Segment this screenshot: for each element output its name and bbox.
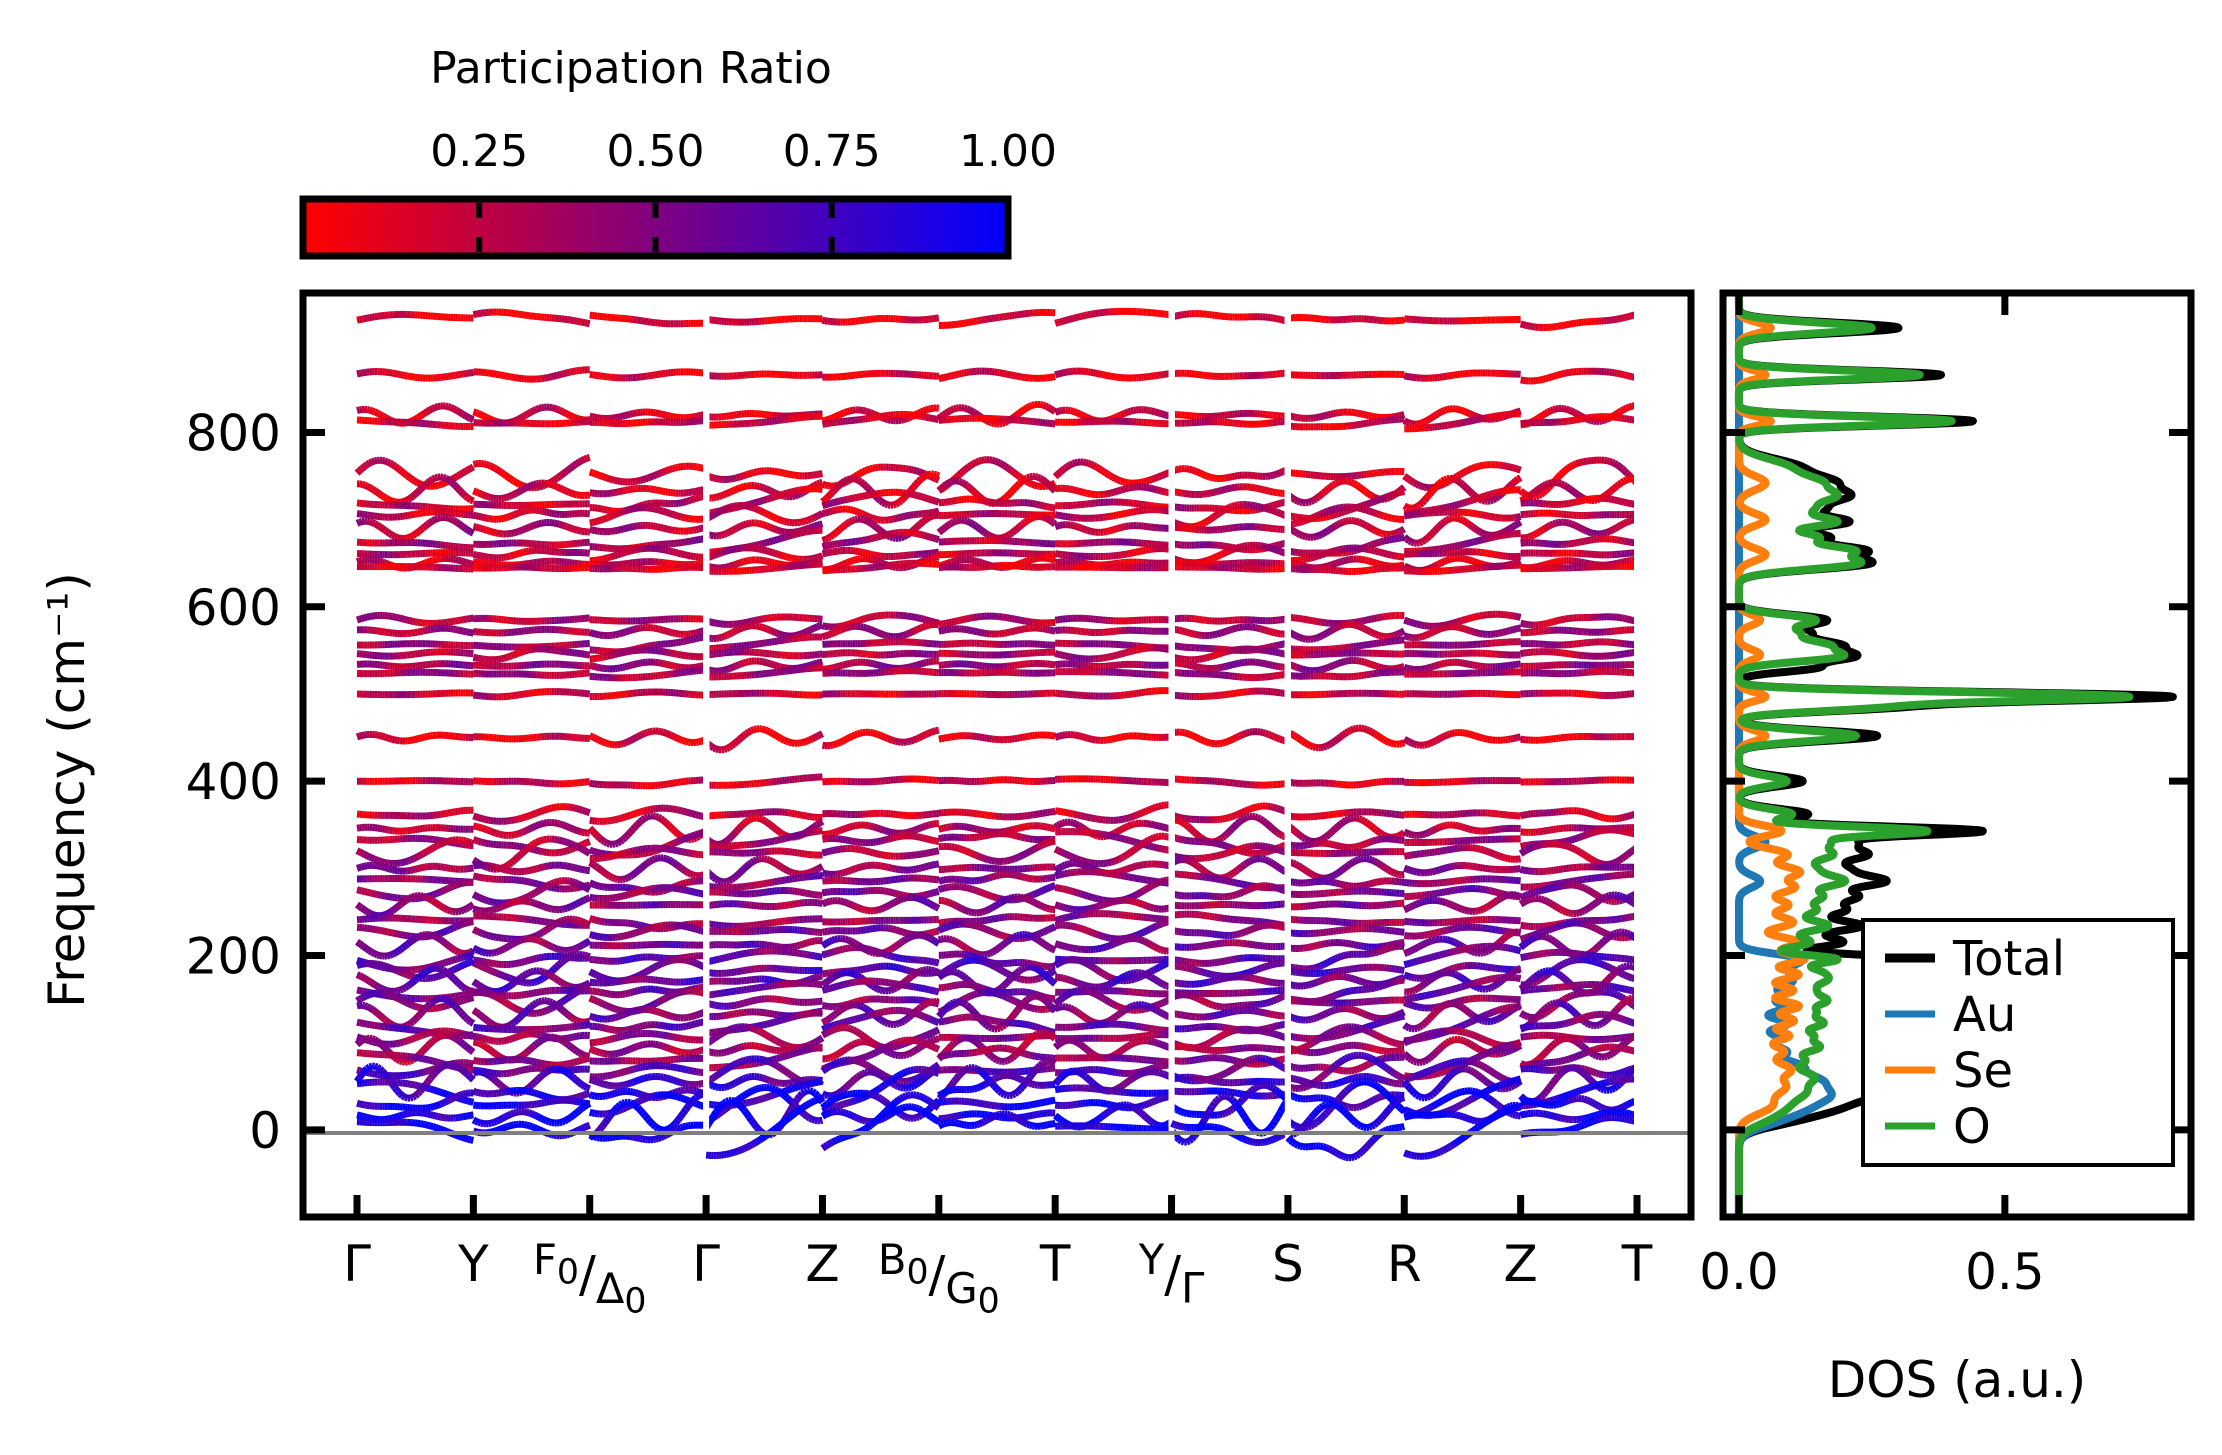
band-segment xyxy=(699,467,702,468)
band-segment xyxy=(1460,473,1463,474)
band-segment xyxy=(830,535,833,537)
band-segment xyxy=(1450,506,1453,507)
band-segment xyxy=(1450,518,1453,519)
band-segment xyxy=(1483,501,1486,502)
band-segment xyxy=(1040,505,1043,506)
band-segment xyxy=(931,418,934,419)
band-segment xyxy=(643,479,646,480)
band-segment xyxy=(1060,470,1063,472)
band-segment xyxy=(1050,408,1053,410)
band-segment xyxy=(476,516,479,517)
band-segment xyxy=(375,412,378,413)
band-segment xyxy=(625,490,628,491)
band-segment xyxy=(878,529,881,531)
band-segment xyxy=(1607,493,1610,495)
band-segment xyxy=(822,540,825,541)
band-segment xyxy=(1341,522,1344,523)
band-segment xyxy=(564,373,567,374)
band-segment xyxy=(1574,492,1577,494)
band-segment xyxy=(1387,496,1390,497)
band-segment xyxy=(726,508,729,509)
band-segment xyxy=(1209,518,1212,520)
band-segment xyxy=(1012,531,1015,533)
band-segment xyxy=(1543,528,1546,530)
band-segment xyxy=(435,407,438,408)
band-segment xyxy=(1328,529,1331,531)
band-segment xyxy=(762,524,765,525)
band-segment xyxy=(461,413,464,415)
band-segment xyxy=(387,462,390,463)
band-segment xyxy=(1505,466,1508,467)
band-segment xyxy=(779,538,782,539)
band-segment xyxy=(1609,461,1612,462)
band-segment xyxy=(1419,542,1422,543)
band-segment xyxy=(951,409,954,410)
band-segment xyxy=(587,457,590,458)
band-segment xyxy=(1040,478,1043,480)
band-segment xyxy=(1096,467,1099,468)
band-segment xyxy=(757,544,760,545)
band-segment xyxy=(385,498,388,499)
band-segment xyxy=(1571,490,1574,492)
band-segment xyxy=(817,483,820,484)
band-segment xyxy=(1473,499,1476,500)
band-segment xyxy=(458,411,461,413)
band-segment xyxy=(1301,521,1304,522)
band-segment xyxy=(1462,503,1465,504)
band-segment xyxy=(1480,419,1483,420)
band-segment xyxy=(1328,414,1331,415)
band-segment xyxy=(1541,529,1544,531)
band-segment xyxy=(919,496,922,497)
band-segment xyxy=(1336,514,1339,515)
band-segment xyxy=(1263,490,1266,491)
band-segment xyxy=(1296,500,1299,501)
band-segment xyxy=(903,536,906,537)
band-segment xyxy=(1156,477,1159,478)
band-segment xyxy=(1561,374,1564,375)
band-segment xyxy=(1050,486,1053,489)
band-segment xyxy=(1412,542,1415,543)
band-segment xyxy=(1591,533,1594,534)
band-segment xyxy=(1326,415,1329,416)
band-segment xyxy=(534,409,537,410)
band-segment xyxy=(1404,506,1407,507)
band-segment xyxy=(779,472,782,473)
band-segment xyxy=(365,318,368,319)
band-segment xyxy=(1055,323,1058,324)
band-segment xyxy=(1017,527,1020,529)
band-segment xyxy=(671,416,674,417)
band-segment xyxy=(559,374,562,375)
band-segment xyxy=(526,527,529,528)
band-segment xyxy=(489,531,492,532)
band-segment xyxy=(1010,491,1013,494)
band-segment xyxy=(1043,506,1046,507)
band-segment xyxy=(1159,490,1162,491)
band-segment xyxy=(1427,536,1430,538)
band-segment xyxy=(1293,417,1296,418)
band-segment xyxy=(883,503,886,504)
band-segment xyxy=(974,413,977,415)
band-segment xyxy=(1204,475,1207,476)
band-segment xyxy=(850,510,853,511)
band-segment xyxy=(418,416,421,418)
band-segment xyxy=(1629,316,1632,317)
band-segment xyxy=(1604,533,1607,534)
band-segment xyxy=(1217,513,1220,515)
band-segment xyxy=(1012,375,1015,376)
band-segment xyxy=(554,375,557,376)
band-segment xyxy=(714,497,717,498)
band-segment xyxy=(1543,484,1546,485)
band-segment xyxy=(1493,499,1496,500)
band-segment xyxy=(848,499,851,500)
band-segment xyxy=(767,499,770,500)
band-segment xyxy=(1470,421,1473,422)
band-segment xyxy=(564,471,567,473)
band-segment xyxy=(1614,463,1617,464)
band-segment xyxy=(876,519,879,520)
band-segment xyxy=(1159,413,1162,414)
band-segment xyxy=(1070,464,1073,465)
band-segment xyxy=(871,468,874,469)
band-segment xyxy=(572,493,575,494)
band-segment xyxy=(1083,529,1086,530)
band-segment xyxy=(471,419,474,420)
band-segment xyxy=(605,510,608,511)
band-segment xyxy=(1255,488,1258,489)
band-segment xyxy=(1425,538,1428,540)
band-segment xyxy=(1108,493,1111,494)
band-segment xyxy=(967,485,970,487)
band-segment xyxy=(871,413,874,414)
band-segment xyxy=(1447,519,1450,520)
band-segment xyxy=(476,527,479,528)
band-segment xyxy=(898,517,901,518)
band-segment xyxy=(1478,498,1481,499)
band-segment xyxy=(924,535,927,536)
band-segment xyxy=(547,377,550,378)
band-segment xyxy=(1333,413,1336,414)
band-segment xyxy=(1083,315,1086,316)
band-segment xyxy=(468,498,471,500)
band-segment xyxy=(501,518,504,519)
band-segment xyxy=(610,516,613,517)
band-segment xyxy=(1564,409,1567,410)
band-segment xyxy=(375,491,378,493)
band-segment xyxy=(653,509,656,510)
band-segment xyxy=(580,460,583,461)
band-segment xyxy=(1007,534,1010,535)
band-segment xyxy=(946,483,949,485)
band-segment xyxy=(397,538,400,539)
band-segment xyxy=(1374,530,1377,531)
band-segment xyxy=(1197,525,1200,526)
band-segment xyxy=(1457,481,1460,483)
band-segment xyxy=(554,486,557,487)
band-segment xyxy=(1609,490,1612,492)
band-segment xyxy=(896,503,899,504)
band-segment xyxy=(853,510,856,511)
band-segment xyxy=(1576,526,1579,527)
band-segment xyxy=(1040,404,1043,405)
band-segment xyxy=(1521,491,1524,493)
band-segment xyxy=(1470,525,1473,527)
band-segment xyxy=(1045,481,1048,483)
band-segment xyxy=(828,495,831,498)
band-segment xyxy=(1399,492,1402,493)
band-segment xyxy=(779,531,782,532)
band-segment xyxy=(463,414,466,416)
band-segment xyxy=(367,463,370,465)
band-segment xyxy=(929,418,932,419)
band-segment xyxy=(1371,502,1374,503)
band-segment xyxy=(792,496,795,497)
band-segment xyxy=(936,501,939,502)
band-segment xyxy=(865,539,868,540)
band-segment xyxy=(696,491,699,492)
band-segment xyxy=(362,466,365,468)
band-segment xyxy=(1131,410,1134,411)
band-segment xyxy=(1382,533,1385,534)
band-segment xyxy=(1624,522,1627,523)
band-segment xyxy=(1407,507,1410,508)
band-segment xyxy=(1419,503,1422,505)
band-segment xyxy=(754,508,757,509)
band-segment xyxy=(453,409,456,410)
band-segment xyxy=(1457,409,1460,410)
band-segment xyxy=(1483,496,1486,497)
band-segment xyxy=(1478,466,1481,467)
band-segment xyxy=(1265,508,1268,509)
band-segment xyxy=(873,518,876,519)
band-segment xyxy=(549,484,552,485)
band-segment xyxy=(1536,489,1539,491)
band-segment xyxy=(385,461,388,462)
band-segment xyxy=(724,508,727,509)
band-segment xyxy=(1010,469,1013,471)
band-segment xyxy=(1217,491,1220,492)
band-segment xyxy=(1457,475,1460,477)
band-segment xyxy=(554,408,557,409)
band-segment xyxy=(1498,492,1501,493)
band-segment xyxy=(600,476,603,477)
band-segment xyxy=(1280,503,1283,504)
band-segment xyxy=(473,491,476,492)
band-segment xyxy=(772,528,775,529)
band-segment xyxy=(1533,491,1536,493)
band-segment xyxy=(1222,490,1225,491)
band-segment xyxy=(1404,421,1407,422)
band-segment xyxy=(612,480,615,481)
band-segment xyxy=(1083,492,1086,493)
band-segment xyxy=(734,489,737,490)
band-segment xyxy=(1402,415,1405,416)
band-segment xyxy=(514,481,517,483)
band-segment xyxy=(1101,374,1104,375)
band-segment xyxy=(1409,423,1412,424)
band-segment xyxy=(1333,483,1336,485)
band-segment xyxy=(815,525,818,526)
band-segment xyxy=(868,522,871,524)
band-segment xyxy=(357,320,360,321)
band-segment xyxy=(1275,474,1278,475)
band-segment xyxy=(1371,529,1374,530)
band-segment xyxy=(1442,508,1445,509)
band-segment xyxy=(587,323,590,324)
band-segment xyxy=(1030,405,1033,406)
band-segment xyxy=(855,479,858,480)
band-segment xyxy=(1566,486,1569,488)
band-segment xyxy=(1412,481,1415,483)
band-segment xyxy=(1556,522,1559,523)
band-segment xyxy=(623,529,626,530)
band-segment xyxy=(382,460,385,461)
band-segment xyxy=(1619,501,1622,502)
band-segment xyxy=(489,465,492,466)
band-segment xyxy=(1500,491,1503,492)
band-segment xyxy=(415,481,418,482)
band-segment xyxy=(1073,525,1076,526)
band-segment xyxy=(1068,465,1071,466)
band-segment xyxy=(833,489,836,492)
band-segment xyxy=(524,511,527,512)
band-segment xyxy=(974,462,977,463)
band-segment xyxy=(845,499,848,500)
band-segment xyxy=(486,417,489,418)
band-segment xyxy=(1546,412,1549,413)
band-segment xyxy=(1452,505,1455,506)
band-segment xyxy=(749,507,752,508)
band-segment xyxy=(494,467,497,468)
band-segment xyxy=(1328,516,1331,517)
band-segment xyxy=(1268,509,1271,510)
band-segment xyxy=(1569,410,1572,411)
band-segment xyxy=(418,483,421,484)
band-segment xyxy=(1394,493,1397,494)
band-segment xyxy=(1273,511,1276,512)
band-segment xyxy=(1331,509,1334,510)
band-segment xyxy=(1215,492,1218,493)
band-segment xyxy=(825,546,828,547)
band-segment xyxy=(1581,500,1584,501)
band-segment xyxy=(1333,526,1336,528)
band-segment xyxy=(1280,472,1283,473)
band-segment xyxy=(1318,417,1321,418)
band-segment xyxy=(919,523,922,525)
band-segment xyxy=(1298,501,1301,502)
band-segment xyxy=(1086,462,1089,463)
band-segment xyxy=(1045,506,1048,507)
band-segment xyxy=(865,515,868,516)
band-segment xyxy=(1404,476,1407,478)
band-segment xyxy=(506,476,509,478)
band-segment xyxy=(1513,481,1516,483)
band-segment xyxy=(1154,412,1157,413)
band-segment xyxy=(1571,465,1574,466)
band-segment xyxy=(1455,505,1458,506)
band-segment xyxy=(1361,488,1364,490)
band-segment xyxy=(661,527,664,528)
band-segment xyxy=(446,518,449,519)
band-segment xyxy=(820,513,823,514)
band-segment xyxy=(526,413,529,415)
band-segment xyxy=(1513,525,1516,527)
band-segment xyxy=(1144,481,1147,482)
band-segment xyxy=(929,537,932,538)
band-segment xyxy=(1318,495,1321,497)
band-segment xyxy=(380,494,383,496)
band-segment xyxy=(443,477,446,478)
band-segment xyxy=(1060,373,1063,374)
band-segment xyxy=(876,527,879,529)
band-segment xyxy=(868,469,871,470)
band-segment xyxy=(1475,529,1478,531)
band-segment xyxy=(423,526,426,528)
band-segment xyxy=(549,513,552,514)
band-segment xyxy=(830,418,833,419)
band-segment xyxy=(658,490,661,491)
band-segment xyxy=(385,530,388,532)
band-segment xyxy=(478,493,481,494)
band-segment xyxy=(878,536,881,537)
band-segment xyxy=(949,376,952,377)
band-segment xyxy=(486,518,489,519)
band-segment xyxy=(1207,476,1210,477)
band-segment xyxy=(661,414,664,415)
band-segment xyxy=(1473,415,1476,416)
band-segment xyxy=(1032,405,1035,406)
band-segment xyxy=(941,415,944,417)
band-segment xyxy=(767,542,770,543)
band-segment xyxy=(1164,415,1167,416)
band-segment xyxy=(997,462,1000,463)
band-segment xyxy=(790,492,793,493)
band-segment xyxy=(1493,493,1496,494)
band-segment xyxy=(557,487,560,488)
band-segment xyxy=(843,481,846,483)
band-segment xyxy=(400,470,403,472)
band-segment xyxy=(1538,487,1541,489)
band-segment xyxy=(1118,415,1121,416)
band-segment xyxy=(370,522,373,523)
band-segment xyxy=(519,490,522,491)
band-segment xyxy=(372,461,375,462)
band-segment xyxy=(1379,499,1382,500)
band-segment xyxy=(873,538,876,539)
band-segment xyxy=(1025,408,1028,410)
band-segment xyxy=(863,410,866,411)
band-segment xyxy=(931,516,934,517)
band-segment xyxy=(724,533,727,534)
band-segment xyxy=(954,408,957,409)
band-segment xyxy=(797,533,800,534)
band-segment xyxy=(430,521,433,523)
band-segment xyxy=(575,418,578,419)
band-segment xyxy=(757,502,760,503)
band-segment xyxy=(1058,472,1061,474)
band-segment xyxy=(1364,504,1367,505)
band-segment xyxy=(1220,511,1223,513)
band-segment xyxy=(1511,527,1514,529)
band-segment xyxy=(810,518,813,519)
band-segment xyxy=(590,529,593,530)
band-segment xyxy=(992,460,995,461)
band-segment xyxy=(610,479,613,480)
band-segment xyxy=(964,468,967,470)
band-segment xyxy=(1460,519,1463,520)
